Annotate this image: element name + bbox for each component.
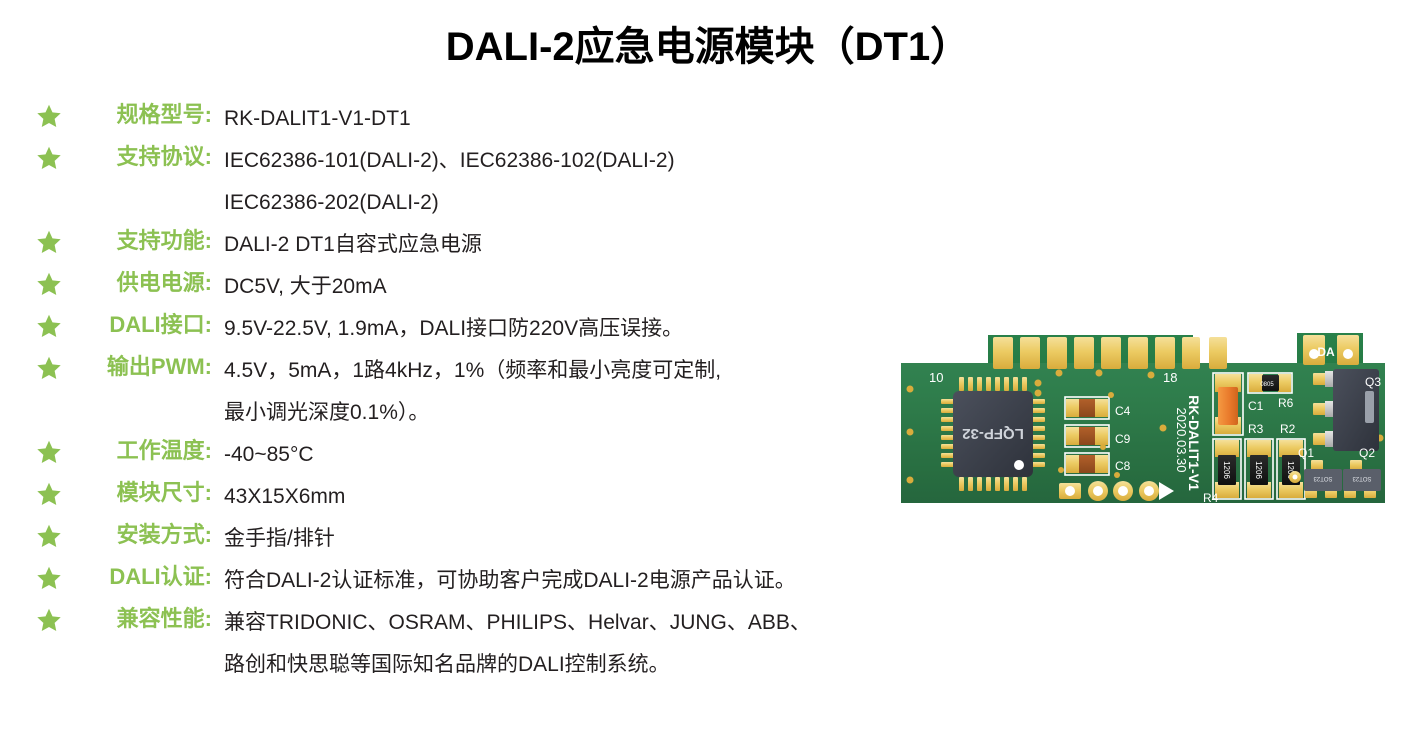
spec-value: DALI-2 DT1自容式应急电源	[218, 226, 880, 268]
specification-list: 规格型号:RK-DALIT1-V1-DT1支持协议:IEC62386-101(D…	[0, 100, 880, 688]
spec-label: 安装方式:	[62, 520, 218, 550]
silkscreen-pin-left: 10	[929, 370, 943, 385]
spec-row: 工作温度:-40~85°C	[0, 436, 880, 478]
spec-row: 兼容性能:兼容TRIDONIC、OSRAM、PHILIPS、Helvar、JUN…	[0, 604, 880, 688]
silkscreen-chip-label: LQFP-32	[962, 425, 1024, 442]
spec-value-line: -40~85°C	[224, 436, 880, 478]
misc-pads	[1289, 471, 1301, 483]
spec-label: DALI接口:	[62, 310, 218, 340]
star-icon	[0, 100, 62, 129]
spec-label: DALI认证:	[62, 562, 218, 592]
spec-value: 43X15X6mm	[218, 478, 880, 520]
star-icon	[0, 478, 62, 507]
spec-label: 支持协议:	[62, 142, 218, 172]
spec-label: 兼容性能:	[62, 604, 218, 634]
silkscreen-c9: C9	[1115, 432, 1131, 446]
gold-finger-connector	[993, 337, 1227, 369]
spec-row: 规格型号:RK-DALIT1-V1-DT1	[0, 100, 880, 142]
spec-row: DALI认证:符合DALI-2认证标准，可协助客户完成DALI-2电源产品认证。	[0, 562, 880, 604]
silkscreen-da: DA	[1317, 345, 1335, 359]
star-icon	[0, 268, 62, 297]
spec-value: DC5V, 大于20mA	[218, 268, 880, 310]
spec-value-line: 路创和快思聪等国际知名品牌的DALI控制系统。	[224, 646, 880, 688]
spec-value-line: DALI-2 DT1自容式应急电源	[224, 226, 880, 268]
silkscreen-r4: R4	[1203, 491, 1219, 505]
silkscreen-c1: C1	[1248, 399, 1264, 413]
star-icon	[0, 352, 62, 381]
spec-value-line: DC5V, 大于20mA	[224, 268, 880, 310]
spec-row: 模块尺寸:43X15X6mm	[0, 478, 880, 520]
spec-value-line: 金手指/排针	[224, 520, 880, 562]
star-icon	[0, 142, 62, 171]
silkscreen-r3: R3	[1248, 422, 1264, 436]
page-title: DALI-2应急电源模块（DT1）	[0, 14, 1416, 72]
spec-value: IEC62386-101(DALI-2)、IEC62386-102(DALI-2…	[218, 142, 880, 226]
star-icon	[0, 562, 62, 591]
svg-text:SOT23: SOT23	[1313, 475, 1333, 481]
silkscreen-r2: R2	[1280, 422, 1296, 436]
spec-value-line: 4.5V，5mA，1路4kHz，1%（频率和最小亮度可定制,	[224, 352, 880, 394]
spec-label: 输出PWM:	[62, 352, 218, 382]
product-spec-sheet: DALI-2应急电源模块（DT1） 规格型号:RK-DALIT1-V1-DT1支…	[0, 0, 1416, 750]
star-icon	[0, 226, 62, 255]
silkscreen-q3: Q3	[1365, 375, 1381, 389]
star-icon	[0, 436, 62, 465]
spec-row: 支持协议:IEC62386-101(DALI-2)、IEC62386-102(D…	[0, 142, 880, 226]
spec-value-line: IEC62386-101(DALI-2)、IEC62386-102(DALI-2…	[224, 142, 880, 184]
silkscreen-q1: Q1	[1298, 446, 1314, 460]
spec-row: 支持功能:DALI-2 DT1自容式应急电源	[0, 226, 880, 268]
spec-label: 工作温度:	[62, 436, 218, 466]
spec-row: DALI接口:9.5V-22.5V, 1.9mA，DALI接口防220V高压误接…	[0, 310, 880, 352]
lqfp32-chip: LQFP-32	[941, 377, 1045, 491]
star-icon	[0, 604, 62, 633]
silkscreen-date-code: 2020.03.30	[1174, 407, 1189, 472]
spec-label: 规格型号:	[62, 100, 218, 130]
spec-row: 供电电源:DC5V, 大于20mA	[0, 268, 880, 310]
spec-row: 安装方式:金手指/排针	[0, 520, 880, 562]
spec-row: 输出PWM:4.5V，5mA，1路4kHz，1%（频率和最小亮度可定制,最小调光…	[0, 352, 880, 436]
spec-label: 模块尺寸:	[62, 478, 218, 508]
spec-value: -40~85°C	[218, 436, 880, 478]
spec-value-line: IEC62386-202(DALI-2)	[224, 184, 880, 226]
silkscreen-pin-right: 18	[1163, 370, 1177, 385]
silkscreen-c8: C8	[1115, 459, 1131, 473]
silkscreen-r6: R6	[1278, 396, 1294, 410]
transistor-q3: Q3	[1313, 369, 1381, 451]
spec-value: 兼容TRIDONIC、OSRAM、PHILIPS、Helvar、JUNG、ABB…	[218, 604, 880, 688]
spec-label: 供电电源:	[62, 268, 218, 298]
spec-value: RK-DALIT1-V1-DT1	[218, 100, 880, 142]
capacitor-group: C4 C9 C8	[1065, 397, 1131, 475]
resistor-code-r3: 1206	[1254, 461, 1263, 479]
spec-value: 9.5V-22.5V, 1.9mA，DALI接口防220V高压误接。	[218, 310, 880, 352]
resistor-code-0805: 0805	[1260, 382, 1274, 388]
star-icon	[0, 310, 62, 339]
spec-value-line: 9.5V-22.5V, 1.9mA，DALI接口防220V高压误接。	[224, 310, 880, 352]
spec-value: 符合DALI-2认证标准，可协助客户完成DALI-2电源产品认证。	[218, 562, 880, 604]
star-icon	[0, 520, 62, 549]
resistor-code-r4: 1206	[1222, 461, 1231, 479]
svg-text:SOT23: SOT23	[1352, 475, 1372, 481]
spec-value: 金手指/排针	[218, 520, 880, 562]
spec-value-line: 符合DALI-2认证标准，可协助客户完成DALI-2电源产品认证。	[224, 562, 880, 604]
spec-value-line: 兼容TRIDONIC、OSRAM、PHILIPS、Helvar、JUNG、ABB…	[224, 604, 880, 646]
spec-value-line: 最小调光深度0.1%）。	[224, 394, 880, 436]
spec-value-line: 43X15X6mm	[224, 478, 880, 520]
spec-label: 支持功能:	[62, 226, 218, 256]
silkscreen-c4: C4	[1115, 404, 1131, 418]
spec-value: 4.5V，5mA，1路4kHz，1%（频率和最小亮度可定制,最小调光深度0.1%…	[218, 352, 880, 436]
spec-value-line: RK-DALIT1-V1-DT1	[224, 100, 880, 142]
pcb-product-image: DA 10 18	[893, 325, 1393, 515]
silkscreen-q2: Q2	[1359, 446, 1375, 460]
